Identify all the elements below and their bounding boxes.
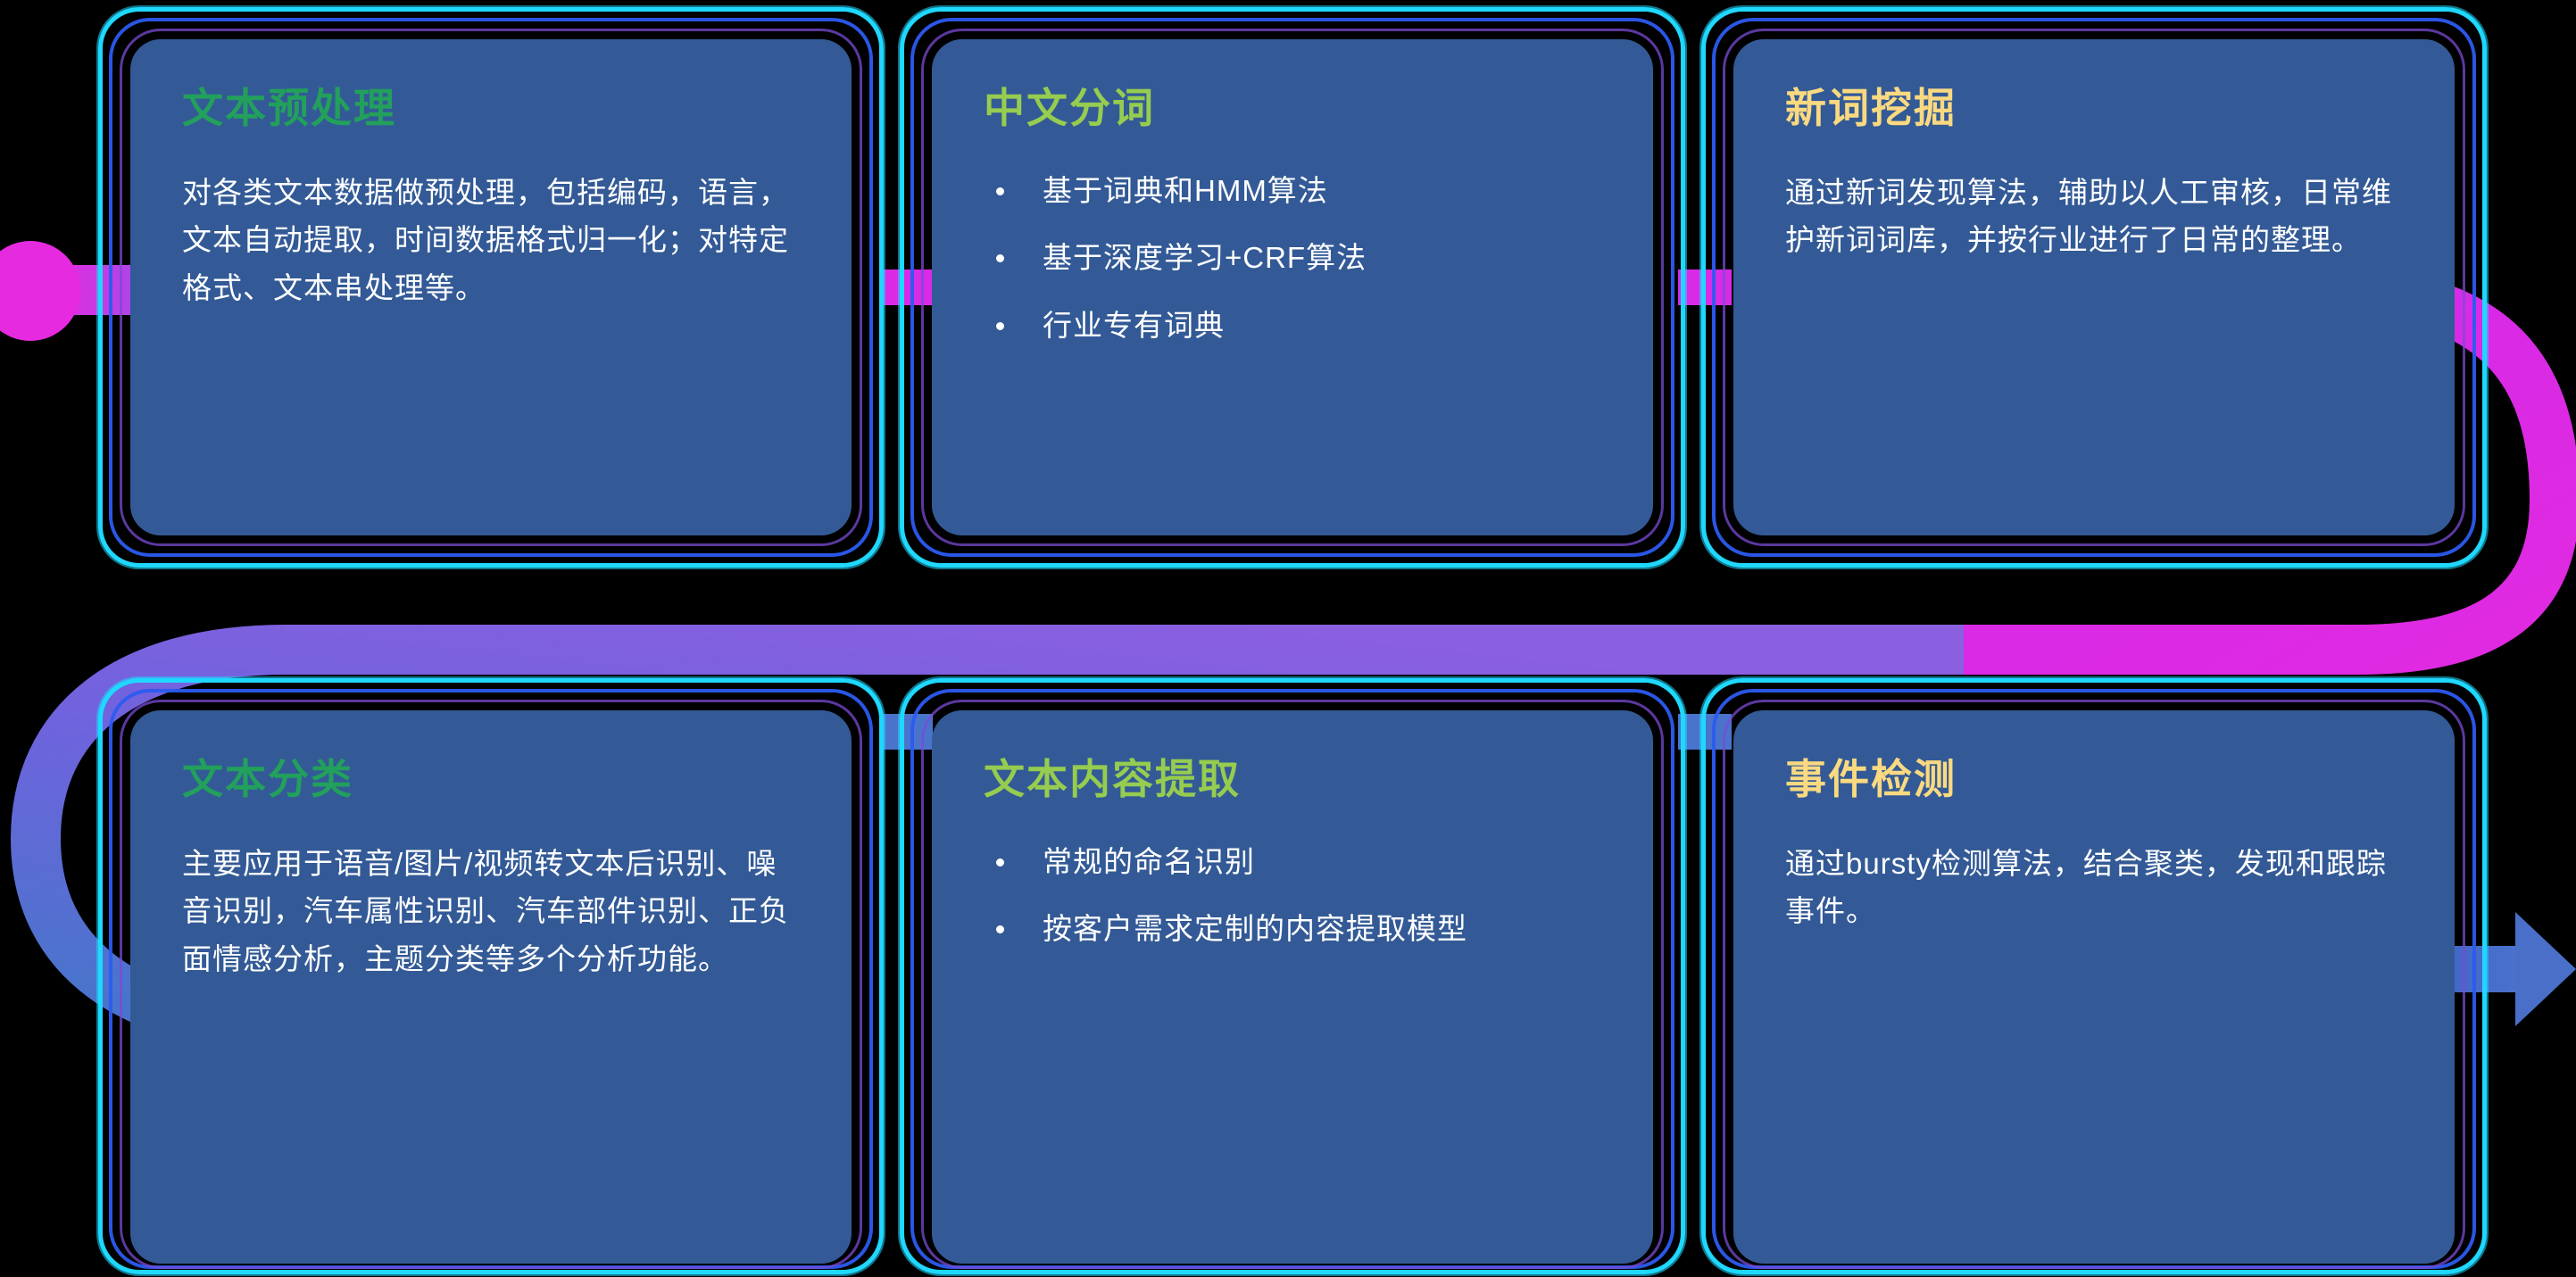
card-body-bullets: 常规的命名识别 按客户需求定制的内容提取模型 [984, 840, 1601, 951]
list-item: 按客户需求定制的内容提取模型 [984, 907, 1601, 951]
card-event-detection[interactable]: 事件检测 通过bursty检测算法，结合聚类，发现和跟踪事件。 [1733, 710, 2455, 1264]
diagram-canvas: 文本预处理 对各类文本数据做预处理，包括编码，语言，文本自动提取，时间数据格式归… [0, 0, 2576, 1277]
card-text-content-extraction[interactable]: 文本内容提取 常规的命名识别 按客户需求定制的内容提取模型 [932, 710, 1653, 1264]
card-title: 文本预处理 [182, 86, 800, 131]
card-text-preprocessing[interactable]: 文本预处理 对各类文本数据做预处理，包括编码，语言，文本自动提取，时间数据格式归… [130, 39, 852, 535]
card-title: 中文分词 [984, 86, 1601, 131]
card-grid: 文本预处理 对各类文本数据做预处理，包括编码，语言，文本自动提取，时间数据格式归… [0, 0, 2576, 1277]
card-body-paragraph: 对各类文本数据做预处理，包括编码，语言，文本自动提取，时间数据格式归一化；对特定… [182, 169, 800, 311]
card-new-word-discovery[interactable]: 新词挖掘 通过新词发现算法，辅助以人工审核，日常维护新词词库，并按行业进行了日常… [1733, 39, 2455, 535]
card-body-paragraph: 主要应用于语音/图片/视频转文本后识别、噪音识别，汽车属性识别、汽车部件识别、正… [182, 840, 800, 983]
list-item: 基于深度学习+CRF算法 [984, 236, 1601, 280]
list-item: 行业专有词典 [984, 303, 1601, 348]
card-body-bullets: 基于词典和HMM算法 基于深度学习+CRF算法 行业专有词典 [984, 169, 1601, 348]
list-item: 常规的命名识别 [984, 840, 1601, 884]
card-title: 新词挖掘 [1785, 86, 2403, 131]
card-body-paragraph: 通过bursty检测算法，结合聚类，发现和跟踪事件。 [1785, 840, 2403, 935]
card-chinese-word-segmentation[interactable]: 中文分词 基于词典和HMM算法 基于深度学习+CRF算法 行业专有词典 [932, 39, 1653, 535]
list-item: 基于词典和HMM算法 [984, 169, 1601, 213]
card-title: 事件检测 [1785, 757, 2403, 802]
card-body-paragraph: 通过新词发现算法，辅助以人工审核，日常维护新词词库，并按行业进行了日常的整理。 [1785, 169, 2403, 264]
card-text-classification[interactable]: 文本分类 主要应用于语音/图片/视频转文本后识别、噪音识别，汽车属性识别、汽车部… [130, 710, 852, 1264]
card-title: 文本分类 [182, 757, 800, 802]
card-title: 文本内容提取 [984, 757, 1601, 802]
